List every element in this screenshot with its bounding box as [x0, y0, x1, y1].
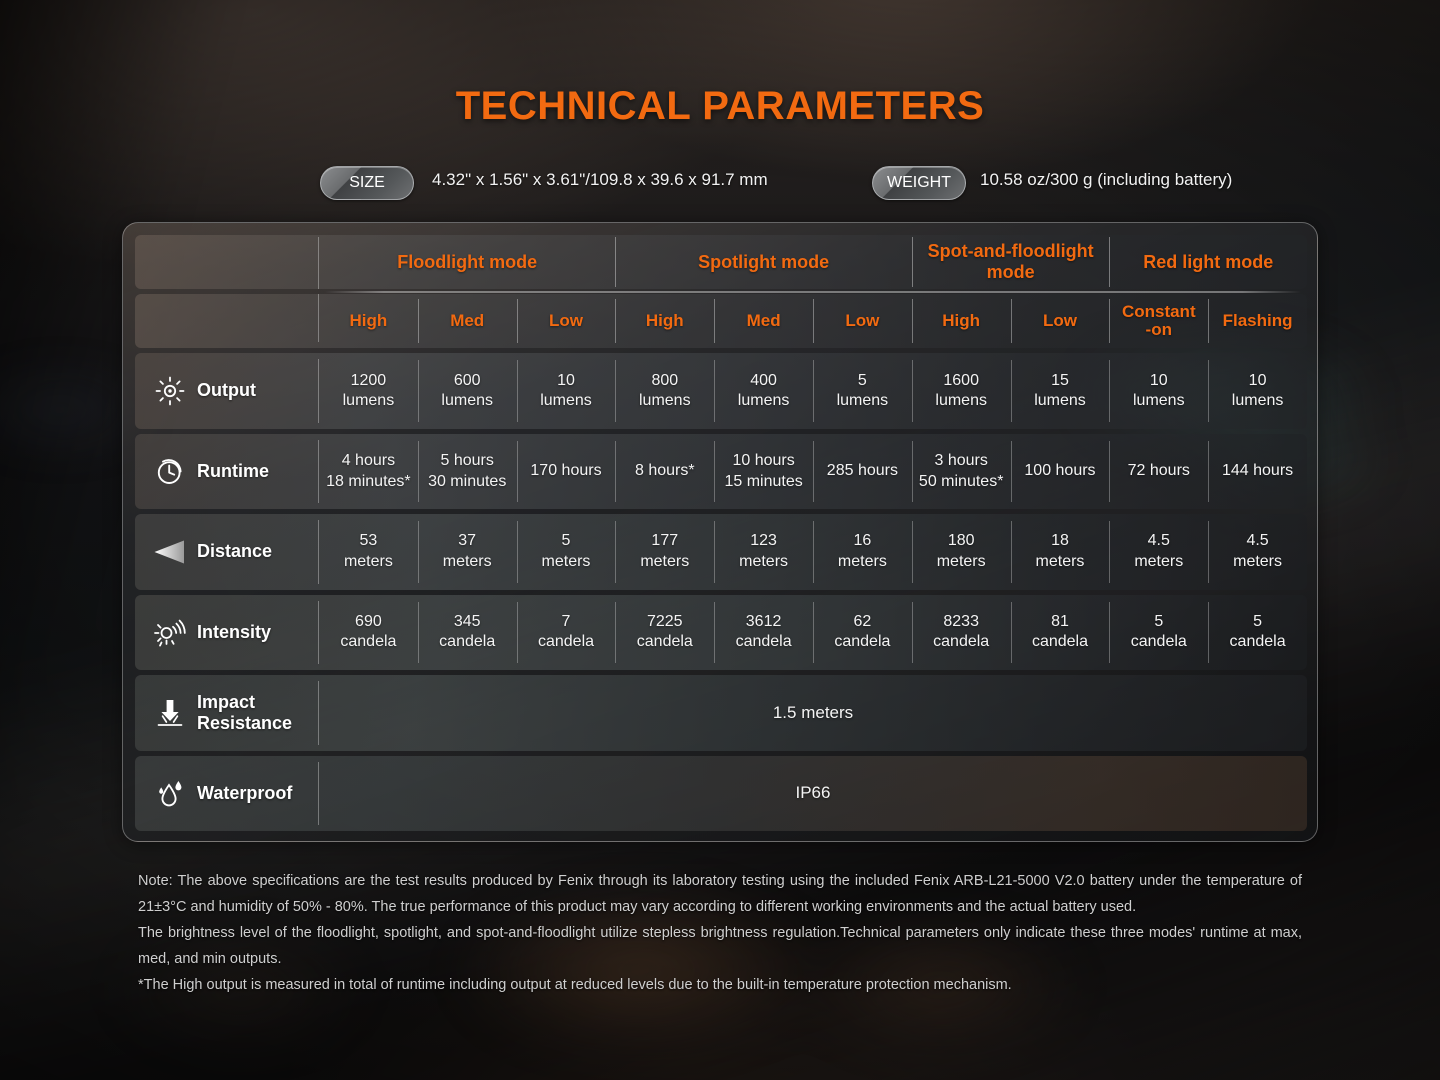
cell-value: 5candela [1109, 595, 1208, 670]
row-label-text: Runtime [197, 461, 269, 482]
cell-value: 170 hours [517, 434, 616, 509]
footnote-line-3: *The High output is measured in total of… [138, 972, 1302, 998]
cell-value: 1200lumens [319, 353, 418, 428]
cell-value: 10 hours15 minutes [714, 434, 813, 509]
cell-value: 5lumens [813, 353, 912, 428]
table-row: Runtime4 hours18 minutes*5 hours30 minut… [135, 434, 1307, 509]
footnotes: Note: The above specifications are the t… [138, 868, 1302, 998]
cell-value: 37meters [418, 514, 517, 589]
row-label-intensity: Intensity [135, 595, 319, 670]
level-header-constant-on-8: Constant-on [1109, 294, 1208, 348]
row-label-distance: Distance [135, 514, 319, 589]
cell-value: 1600lumens [912, 353, 1011, 428]
weight-badge: WEIGHT [872, 166, 966, 200]
size-value: 4.32" x 1.56" x 3.61"/109.8 x 39.6 x 91.… [432, 170, 768, 190]
cell-value: 144 hours [1208, 434, 1307, 509]
cell-value: 81candela [1011, 595, 1110, 670]
cell-value: 690candela [319, 595, 418, 670]
mode-group-floodlight: Floodlight mode [319, 235, 615, 289]
level-header-low-5: Low [813, 294, 912, 348]
cell-value: 5meters [517, 514, 616, 589]
sun-icon [149, 376, 191, 406]
cell-value-full-width: IP66 [319, 756, 1307, 831]
cell-value: 100 hours [1011, 434, 1110, 509]
cell-value: 4.5meters [1208, 514, 1307, 589]
cell-value: 4.5meters [1109, 514, 1208, 589]
cell-value-full-width: 1.5 meters [319, 675, 1307, 750]
specifications-grid: Floodlight mode Spotlight mode Spot-and-… [135, 235, 1307, 831]
table-header-modes: Floodlight mode Spotlight mode Spot-and-… [135, 235, 1307, 289]
row-label-waterproof: Waterproof [135, 756, 319, 831]
footnote-line-1: Note: The above specifications are the t… [138, 868, 1302, 920]
cell-value: 8233candela [912, 595, 1011, 670]
size-badge: SIZE [320, 166, 414, 200]
cell-value: 10lumens [1208, 353, 1307, 428]
level-header-low-2: Low [517, 294, 616, 348]
spec-summary-row: SIZE 4.32" x 1.56" x 3.61"/109.8 x 39.6 … [0, 166, 1440, 200]
header-corner-blank [135, 235, 319, 289]
footnote-line-2: The brightness level of the floodlight, … [138, 920, 1302, 972]
cell-value: 53meters [319, 514, 418, 589]
cell-value: 8 hours* [615, 434, 714, 509]
weight-value: 10.58 oz/300 g (including battery) [980, 170, 1232, 190]
cell-value: 3612candela [714, 595, 813, 670]
cell-value: 400lumens [714, 353, 813, 428]
table-row: WaterproofIP66 [135, 756, 1307, 831]
intensity-icon [149, 617, 191, 647]
beam-triangle-icon [149, 539, 191, 565]
header-separator-line [325, 291, 1301, 293]
cell-value: 800lumens [615, 353, 714, 428]
row-label-text: Waterproof [197, 783, 292, 804]
table-row: ImpactResistance1.5 meters [135, 675, 1307, 750]
cell-value: 7225candela [615, 595, 714, 670]
mode-group-spotlight: Spotlight mode [615, 235, 911, 289]
mode-group-red-light: Red light mode [1109, 235, 1307, 289]
cell-value: 10lumens [1109, 353, 1208, 428]
cell-value: 177meters [615, 514, 714, 589]
table-row: Intensity690candela345candela7candela722… [135, 595, 1307, 670]
cell-value: 123meters [714, 514, 813, 589]
cell-value: 5 hours30 minutes [418, 434, 517, 509]
row-label-runtime: Runtime [135, 434, 319, 509]
level-header-high-3: High [615, 294, 714, 348]
clock-icon [149, 457, 191, 487]
cell-value: 180meters [912, 514, 1011, 589]
table-header-levels: HighMedLowHighMedLowHighLowConstant-onFl… [135, 294, 1307, 348]
cell-value: 7candela [517, 595, 616, 670]
water-drop-icon [149, 778, 191, 808]
cell-value: 16meters [813, 514, 912, 589]
level-header-med-4: Med [714, 294, 813, 348]
cell-value: 345candela [418, 595, 517, 670]
level-header-high-6: High [912, 294, 1011, 348]
cell-value: 600lumens [418, 353, 517, 428]
row-label-text: Intensity [197, 622, 271, 643]
cell-value: 4 hours18 minutes* [319, 434, 418, 509]
row-label-text: Distance [197, 541, 272, 562]
row-label-text: Output [197, 380, 256, 401]
row-label-text: ImpactResistance [197, 692, 292, 734]
row-label-output: Output [135, 353, 319, 428]
cell-value: 3 hours50 minutes* [912, 434, 1011, 509]
level-header-flashing-9: Flashing [1208, 294, 1307, 348]
cell-value: 18meters [1011, 514, 1110, 589]
level-header-med-1: Med [418, 294, 517, 348]
page-title: TECHNICAL PARAMETERS [0, 84, 1440, 129]
specifications-table-panel: Floodlight mode Spotlight mode Spot-and-… [122, 222, 1318, 842]
mode-group-spot-and-floodlight: Spot-and-floodlight mode [912, 235, 1110, 289]
impact-arrow-icon [149, 698, 191, 728]
table-row: Output1200lumens600lumens10lumens800lume… [135, 353, 1307, 428]
cell-value: 15lumens [1011, 353, 1110, 428]
level-header-high-0: High [319, 294, 418, 348]
cell-value: 285 hours [813, 434, 912, 509]
cell-value: 10lumens [517, 353, 616, 428]
levels-corner-blank [135, 294, 319, 348]
cell-value: 62candela [813, 595, 912, 670]
level-header-low-7: Low [1011, 294, 1110, 348]
table-row: Distance53meters37meters5meters177meters… [135, 514, 1307, 589]
row-label-impact-resistance: ImpactResistance [135, 675, 319, 750]
cell-value: 72 hours [1109, 434, 1208, 509]
cell-value: 5candela [1208, 595, 1307, 670]
